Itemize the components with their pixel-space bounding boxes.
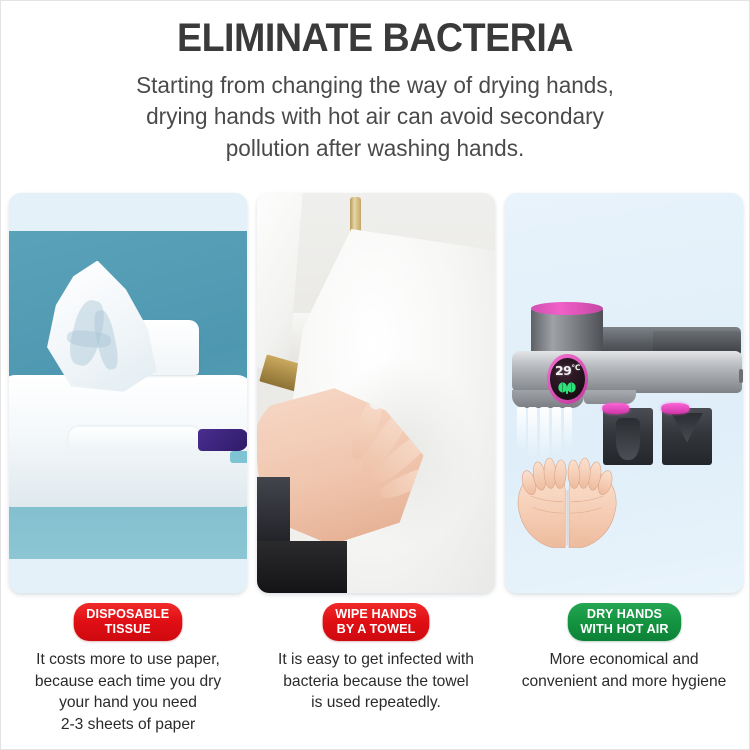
caption-line: convenient and more hygiene [505, 671, 743, 693]
infographic-page: ELIMINATE BACTERIA Starting from changin… [0, 0, 750, 750]
badge-wipe-hands-by-towel: WIPE HANDS BY A TOWEL [323, 603, 430, 641]
caption-line: your hand you need [9, 692, 247, 714]
dispenser-right[interactable] [662, 408, 712, 465]
dark-foreground-left [257, 477, 290, 541]
badge-line-2: TISSUE [87, 622, 170, 637]
pulled-tissue-sheet [47, 261, 156, 392]
page-subtitle: Starting from changing the way of drying… [16, 70, 734, 164]
badge-dry-hands-with-hot-air: DRY HANDS WITH HOT AIR [567, 603, 680, 641]
panel-image-disposable-tissue [9, 193, 247, 593]
panel-row: 29℃ [9, 193, 743, 593]
caption-dry-hands-with-hot-air: DRY HANDS WITH HOT AIR More economical a… [505, 603, 743, 735]
wipes-pack-body [9, 375, 247, 506]
dryer-display-screen[interactable]: 29℃ [550, 358, 585, 400]
subtitle-line-2: drying hands with hot air can avoid seco… [16, 101, 734, 132]
dispenser-right-pink-button[interactable] [661, 403, 688, 414]
badge-line-1: DISPOSABLE [87, 607, 170, 622]
caption-line: because each time you dry [9, 671, 247, 693]
temperature-unit: ℃ [571, 363, 580, 372]
caption-text-wipe-hands-by-towel: It is easy to get infected with bacteria… [257, 649, 495, 714]
caption-line: 2-3 sheets of paper [9, 714, 247, 736]
wipes-pack-purple-accent [198, 429, 247, 451]
caption-line: It costs more to use paper, [9, 649, 247, 671]
caption-line: It is easy to get infected with [257, 649, 495, 671]
caption-line: bacteria because the towel [257, 671, 495, 693]
tissue-photo [9, 231, 247, 559]
panel-image-dry-hands-with-hot-air: 29℃ [505, 193, 743, 593]
dryer-display-bezel: 29℃ [547, 354, 589, 404]
wipes-pack-lid [67, 425, 203, 454]
caption-row: DISPOSABLE TISSUE It costs more to use p… [9, 603, 743, 735]
wipes-pack-side-accent [230, 451, 247, 463]
badge-line-2: BY A TOWEL [335, 622, 417, 637]
dispenser-right-nozzle [671, 413, 703, 443]
temperature-readout: 29℃ [550, 363, 585, 378]
subtitle-line-3: pollution after washing hands. [16, 133, 734, 164]
dryer-side-button[interactable] [739, 369, 743, 383]
badge-line-1: WIPE HANDS [335, 607, 417, 622]
panel1-top-band [9, 193, 247, 231]
page-title: ELIMINATE BACTERIA [23, 17, 726, 60]
caption-wipe-hands-by-towel: WIPE HANDS BY A TOWEL It is easy to get … [257, 603, 495, 735]
header: ELIMINATE BACTERIA Starting from changin… [1, 1, 749, 164]
badge-line-1: DRY HANDS [580, 607, 668, 622]
caption-line: More economical and [505, 649, 743, 671]
panel1-bottom-band [9, 559, 247, 593]
caption-text-disposable-tissue: It costs more to use paper, because each… [9, 649, 247, 735]
dryer-body-neck [584, 390, 636, 404]
caption-disposable-tissue: DISPOSABLE TISSUE It costs more to use p… [9, 603, 247, 735]
panel-image-wipe-hands-by-towel [257, 193, 495, 593]
germ-free-leaf-icon [557, 379, 579, 396]
temperature-value: 29 [555, 363, 571, 378]
badge-disposable-tissue: DISPOSABLE TISSUE [74, 603, 182, 641]
dark-foreground-bottom [257, 541, 347, 593]
subtitle-line-1: Starting from changing the way of drying… [16, 70, 734, 101]
caption-text-dry-hands-with-hot-air: More economical and convenient and more … [505, 649, 743, 692]
caption-line: is used repeatedly. [257, 692, 495, 714]
cupped-hands-illustration [510, 409, 624, 585]
badge-line-2: WITH HOT AIR [580, 622, 668, 637]
